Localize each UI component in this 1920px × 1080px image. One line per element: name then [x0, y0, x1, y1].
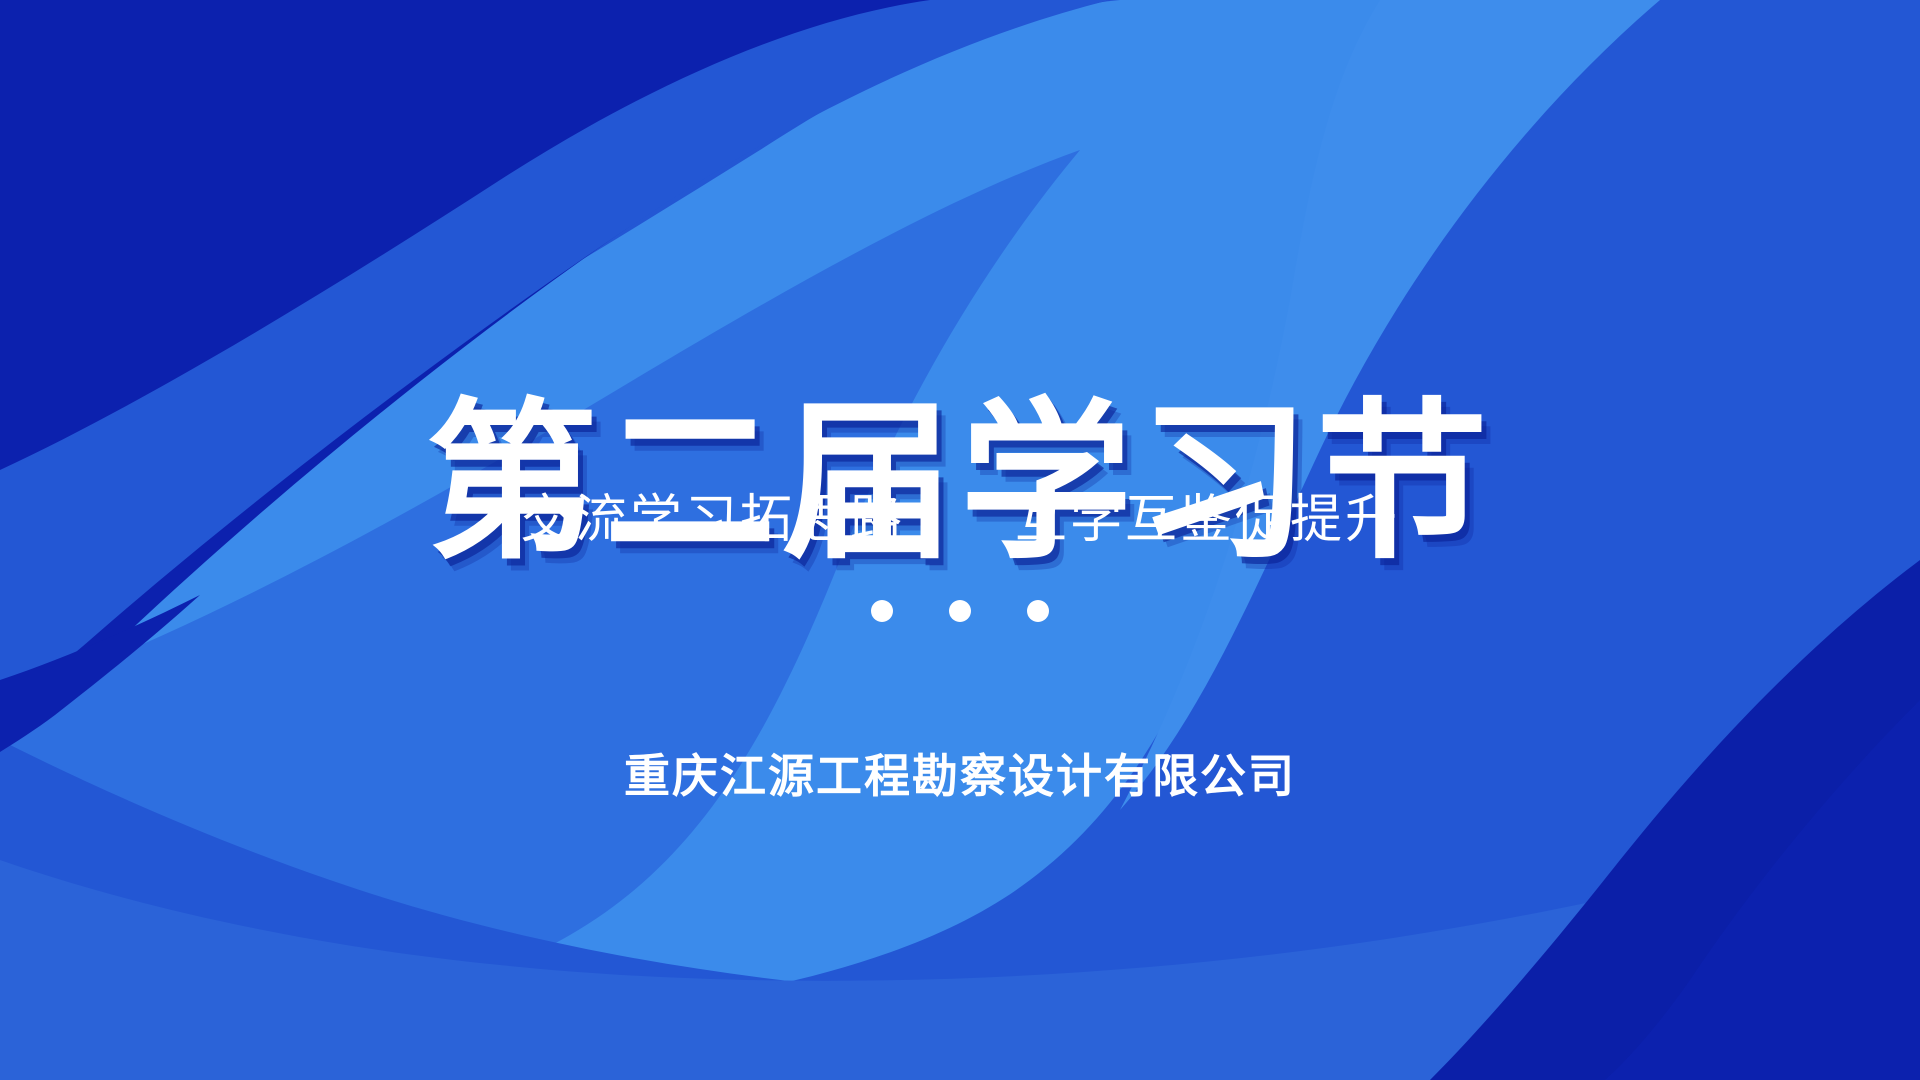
subtitle-text: 交流学习拓思路 互学互鉴促提升 — [0, 492, 1920, 549]
divider-dot-2 — [949, 600, 971, 622]
company-name: 重庆江源工程勘察设计有限公司 — [0, 740, 1920, 806]
poster-content: 第二届学习节 交流学习拓思路 互学互鉴促提升 重庆江源工程勘察设计有限公司 — [0, 0, 1920, 1080]
dots-divider — [0, 600, 1920, 622]
divider-dot-3 — [1027, 600, 1049, 622]
poster-canvas: 第二届学习节 交流学习拓思路 互学互鉴促提升 重庆江源工程勘察设计有限公司 — [0, 0, 1920, 1080]
divider-dot-1 — [871, 600, 893, 622]
